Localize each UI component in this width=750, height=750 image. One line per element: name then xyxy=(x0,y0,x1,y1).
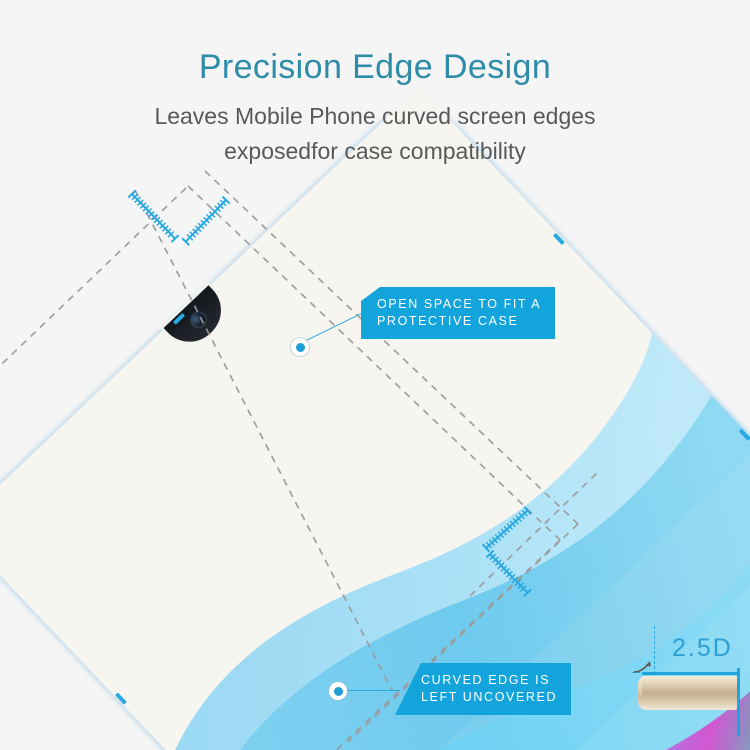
marker-inner-dot xyxy=(334,687,343,696)
edge-diagram-label: 2.5D xyxy=(672,636,733,661)
front-camera-icon xyxy=(189,310,209,330)
curved-edge-callout-box[interactable]: CURVED EDGE IS LEFT UNCOVERED xyxy=(395,663,571,715)
measurement-ruler-bottom-right xyxy=(478,494,588,594)
page-subtitle: Leaves Mobile Phone curved screen edges … xyxy=(0,99,750,169)
callout-leader-line xyxy=(338,690,400,691)
subtitle-line-1: Leaves Mobile Phone curved screen edges xyxy=(0,99,750,134)
open-space-callout-line-2: PROTECTIVE CASE xyxy=(377,313,541,330)
callout-marker-dot xyxy=(291,338,309,356)
measurement-ruler-top-left xyxy=(118,186,238,286)
open-space-callout-line-1: OPEN SPACE TO FIT A xyxy=(377,296,541,313)
product-feature-banner: Precision Edge Design Leaves Mobile Phon… xyxy=(0,0,750,750)
curved-edge-callout-line-2: LEFT UNCOVERED xyxy=(421,689,557,706)
marker-inner-dot xyxy=(296,343,305,352)
curved-edge-callout[interactable]: CURVED EDGE IS LEFT UNCOVERED xyxy=(395,663,571,715)
edge-diagram-right-rule xyxy=(737,668,740,736)
heading-block: Precision Edge Design Leaves Mobile Phon… xyxy=(0,46,750,169)
curved-edge-callout-line-1: CURVED EDGE IS xyxy=(421,672,557,689)
open-space-callout-box[interactable]: OPEN SPACE TO FIT A PROTECTIVE CASE xyxy=(361,287,555,339)
edge-thickness-diagram: 2.5D xyxy=(632,626,750,738)
edge-diagram-top-rule xyxy=(642,672,740,675)
open-space-callout[interactable]: OPEN SPACE TO FIT A PROTECTIVE CASE xyxy=(361,287,555,339)
page-title: Precision Edge Design xyxy=(0,46,750,88)
callout-marker-dot xyxy=(329,682,347,700)
subtitle-line-2: exposedfor case compatibility xyxy=(0,134,750,169)
edge-diagram-glass-body xyxy=(642,676,738,710)
